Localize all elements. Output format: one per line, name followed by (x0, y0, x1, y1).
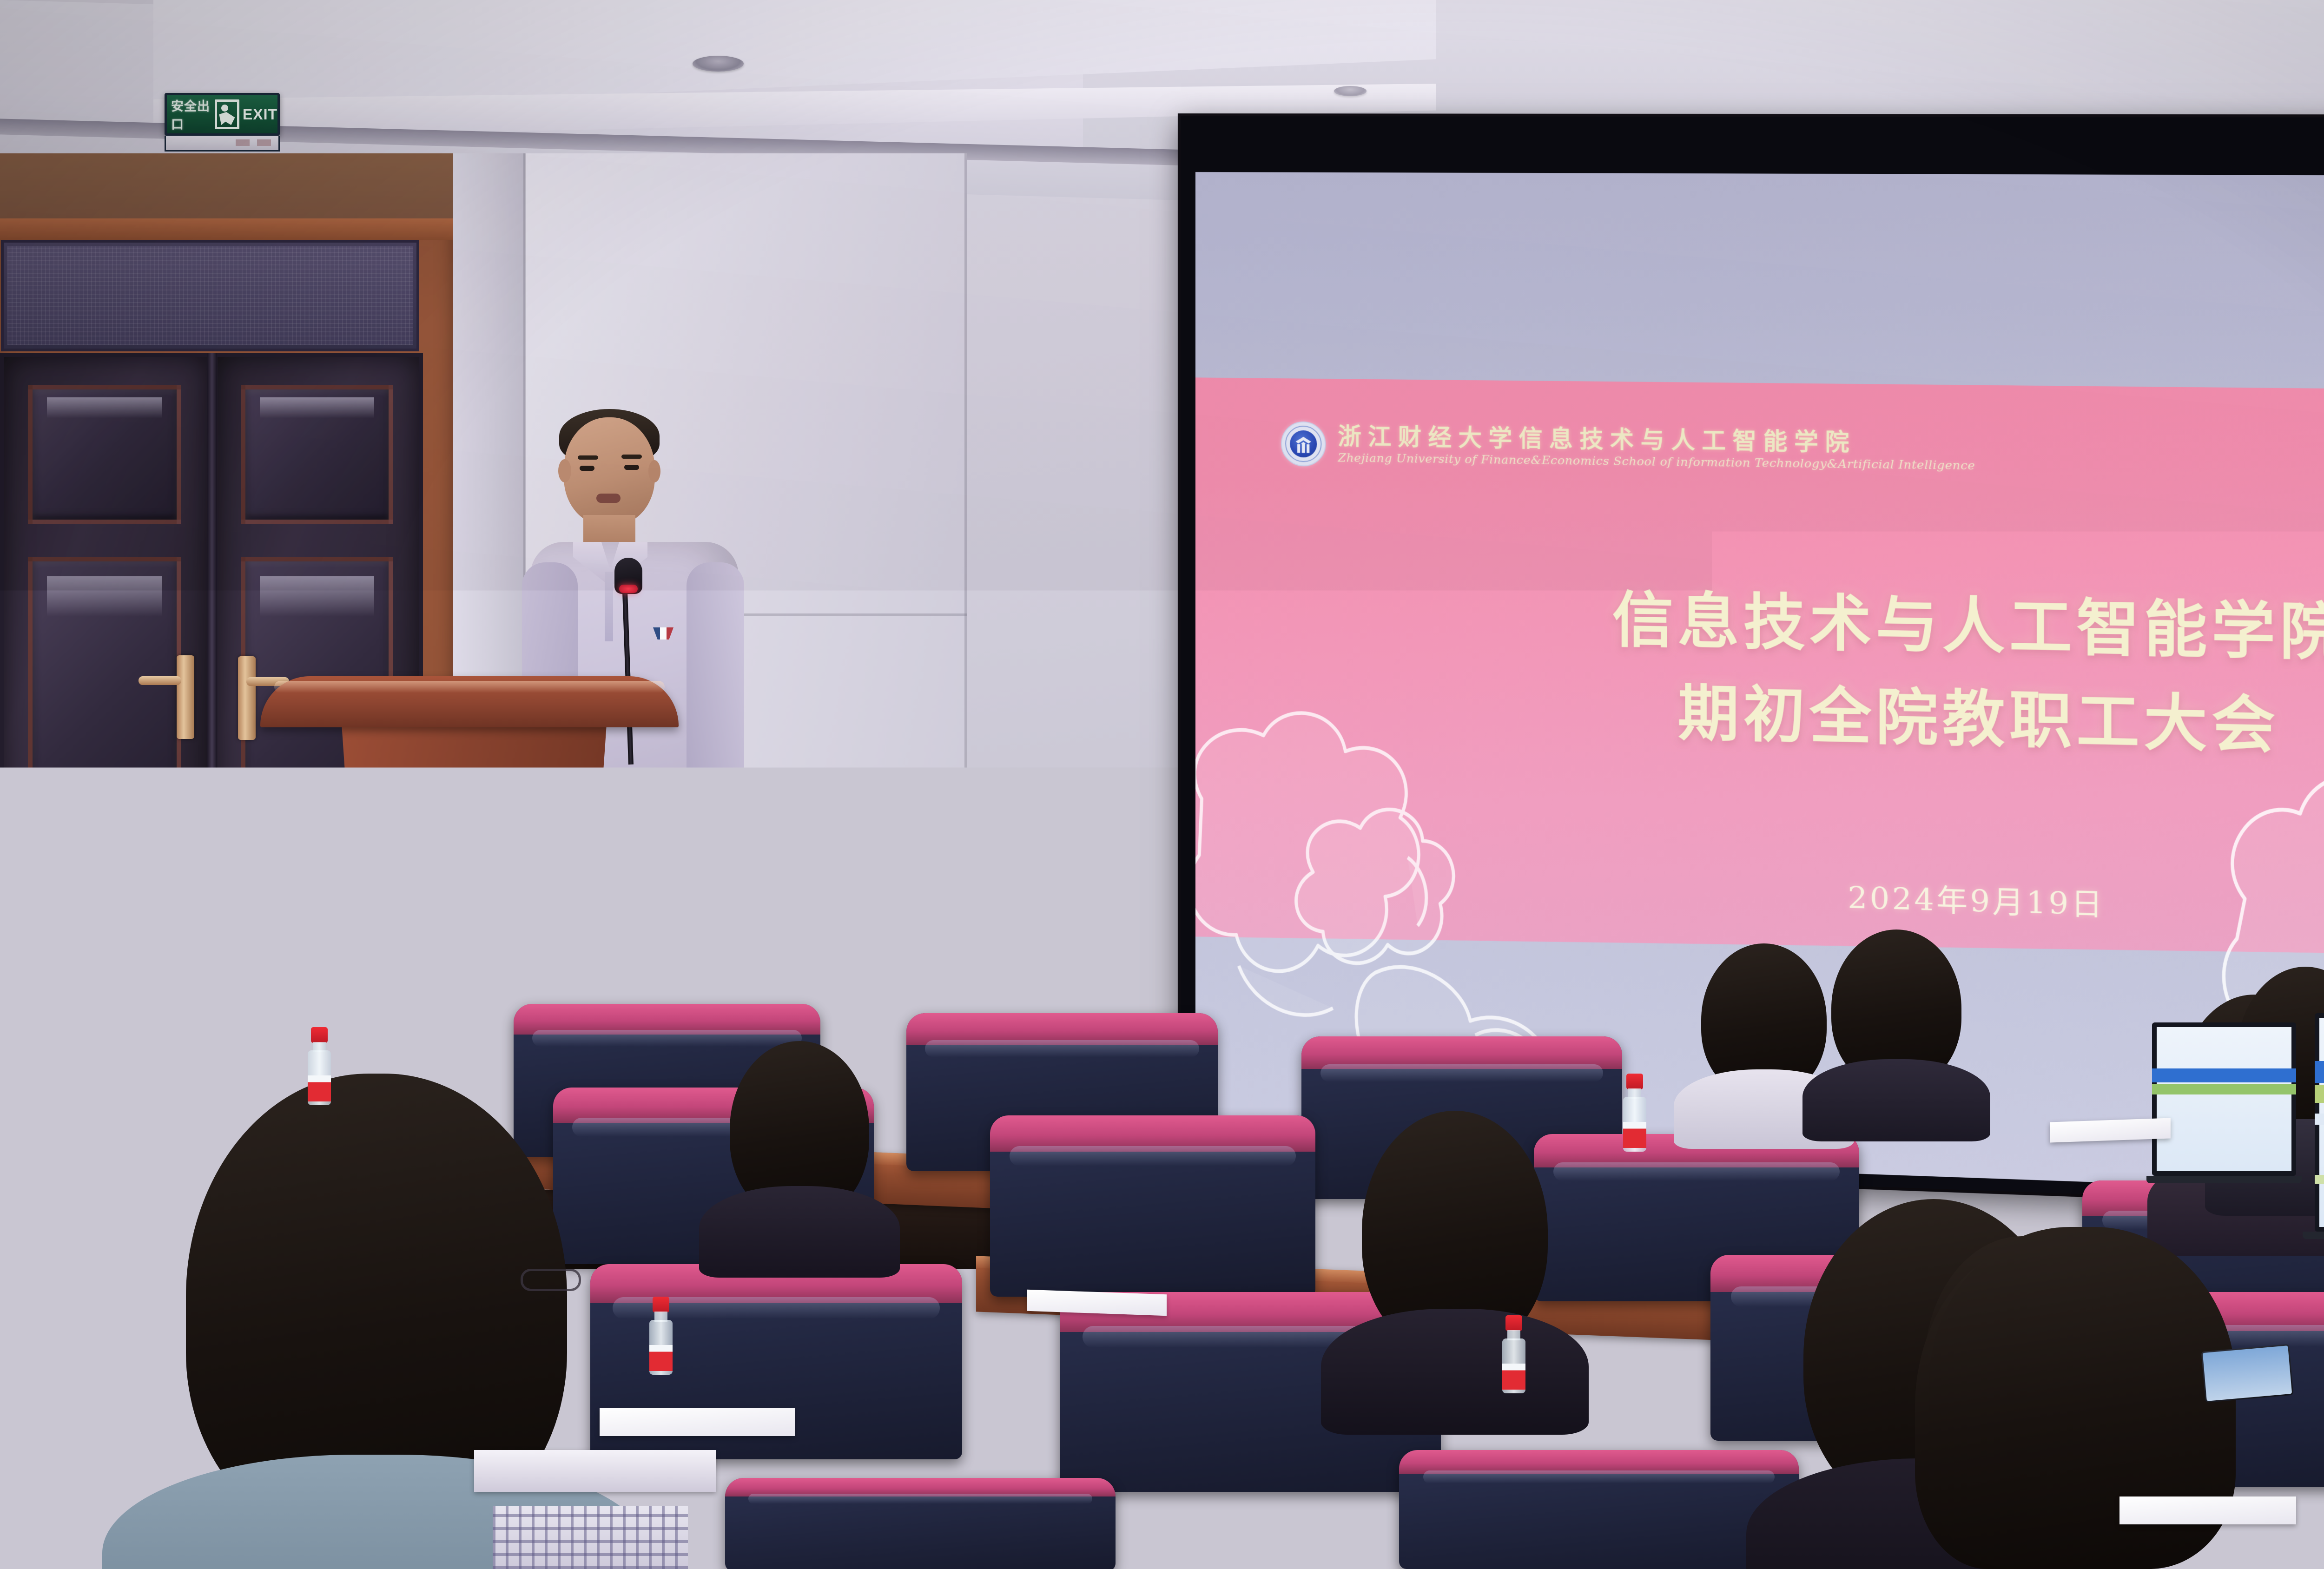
speaker-head (564, 417, 655, 525)
speaker-ear-left (558, 459, 571, 482)
door-panel (28, 385, 181, 524)
water-bottle[interactable] (307, 1027, 332, 1105)
exit-sign-base (165, 136, 280, 152)
water-bottle[interactable] (648, 1297, 684, 1404)
transom-mesh (7, 246, 413, 345)
auditorium-seat[interactable] (725, 1478, 1116, 1569)
water-bottle[interactable] (1627, 1083, 1653, 1162)
ceiling-downlight (693, 56, 744, 72)
speaker-ear-right (648, 460, 660, 482)
microphone-led-indicator (619, 585, 638, 593)
paper-stack[interactable] (2050, 1118, 2171, 1142)
laptop-right[interactable] (2315, 1013, 2324, 1232)
door-panel (241, 385, 393, 524)
lecture-hall-photo: 安全出口 EXIT (0, 0, 2324, 1569)
podium-emblem-glyph-icon (449, 828, 502, 877)
door-handle-right[interactable] (238, 656, 256, 740)
podium-emblem-year: 1986 (416, 876, 535, 887)
laptop-left[interactable] (2152, 1022, 2296, 1176)
notebook[interactable] (474, 1450, 716, 1492)
eyeglasses[interactable] (521, 1269, 581, 1291)
slide-top-band (1195, 172, 2324, 393)
podium-top (260, 676, 679, 727)
door-lever-left[interactable] (139, 676, 181, 685)
water-bottle[interactable] (1501, 1315, 1538, 1424)
auditorium-seat[interactable] (990, 1115, 1315, 1297)
speaker-arm-right (687, 562, 744, 841)
emblem-glyph-icon (1294, 435, 1313, 455)
auditorium-seat[interactable] (1399, 1450, 1799, 1569)
water-bottle[interactable] (182, 947, 207, 1025)
speaker-mouth (596, 494, 621, 503)
paper-stack[interactable] (600, 1408, 795, 1436)
exit-sign-chinese-label: 安全出口 (167, 96, 213, 132)
running-person-icon (215, 99, 239, 129)
audience-member (1831, 930, 1961, 1088)
audience-member (1701, 943, 1827, 1097)
door-panel (28, 557, 181, 817)
slide-date: 2024年9月19日 (1195, 857, 2324, 943)
slide-header-lockup: 浙江财经大学信息技术与人工智能学院 Zhejiang University of… (1281, 422, 1975, 475)
paper-stack[interactable] (2119, 1496, 2296, 1524)
slide-title-block: 信息技术与人工智能学院 期初全院教职工大会 (1195, 568, 2324, 784)
podium-school-emblem: 1986 (415, 795, 536, 916)
wall-seam (964, 153, 967, 1036)
door-header-panel (0, 153, 453, 223)
door-handle-left[interactable] (177, 655, 194, 739)
door-lintel (0, 218, 453, 240)
smartphone[interactable] (2201, 1344, 2294, 1403)
door-transom-window (1, 240, 419, 351)
exit-sign-english-label: EXIT (241, 106, 277, 123)
water-bottle[interactable] (9, 1218, 42, 1315)
audience-member (730, 1041, 869, 1218)
exit-sign: 安全出口 EXIT (165, 93, 280, 136)
plaid-fabric (493, 1506, 688, 1569)
speaker-placket (605, 572, 613, 641)
slide-title-line-2: 期初全院教职工大会 (1195, 659, 2324, 784)
ceiling-downlight (1334, 86, 1367, 96)
university-emblem-icon (1281, 422, 1326, 467)
